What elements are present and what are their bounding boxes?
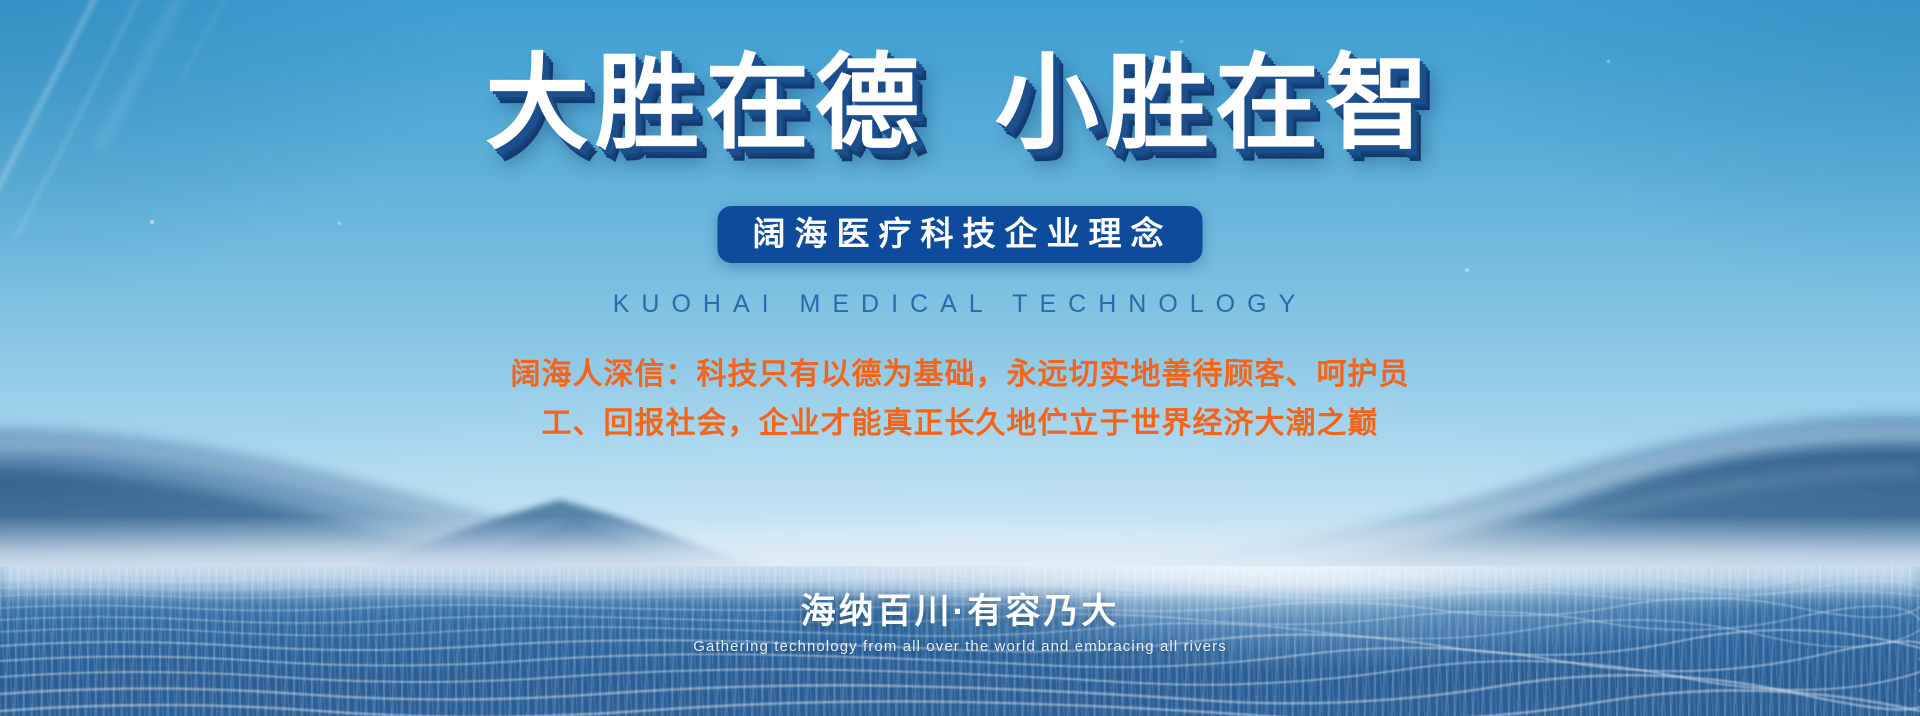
tagline-block: 海纳百川·有容乃大 Gathering technology from all …: [0, 592, 1920, 655]
banner-content: 大胜在德 小胜在智 阔海医疗科技企业理念 KUOHAI MEDICAL TECH…: [0, 0, 1920, 716]
creed-line-1: 阔海人深信：科技只有以德为基础，永远切实地善待顾客、呵护员: [0, 350, 1920, 399]
creed-line-2: 工、回报社会，企业才能真正长久地伫立于世界经济大潮之巅: [0, 399, 1920, 448]
hero-banner: 大胜在德 小胜在智 阔海医疗科技企业理念 KUOHAI MEDICAL TECH…: [0, 0, 1920, 716]
philosophy-badge: 阔海医疗科技企业理念: [718, 206, 1203, 263]
tagline-chinese: 海纳百川·有容乃大: [0, 592, 1920, 632]
tagline-english: Gathering technology from all over the w…: [0, 638, 1920, 655]
philosophy-badge-label: 阔海医疗科技企业理念: [748, 217, 1173, 250]
creed-paragraph: 阔海人深信：科技只有以德为基础，永远切实地善待顾客、呵护员 工、回报社会，企业才…: [0, 350, 1920, 448]
english-subtitle: KUOHAI MEDICAL TECHNOLOGY: [0, 290, 1920, 319]
main-headline: 大胜在德 小胜在智: [0, 48, 1920, 160]
